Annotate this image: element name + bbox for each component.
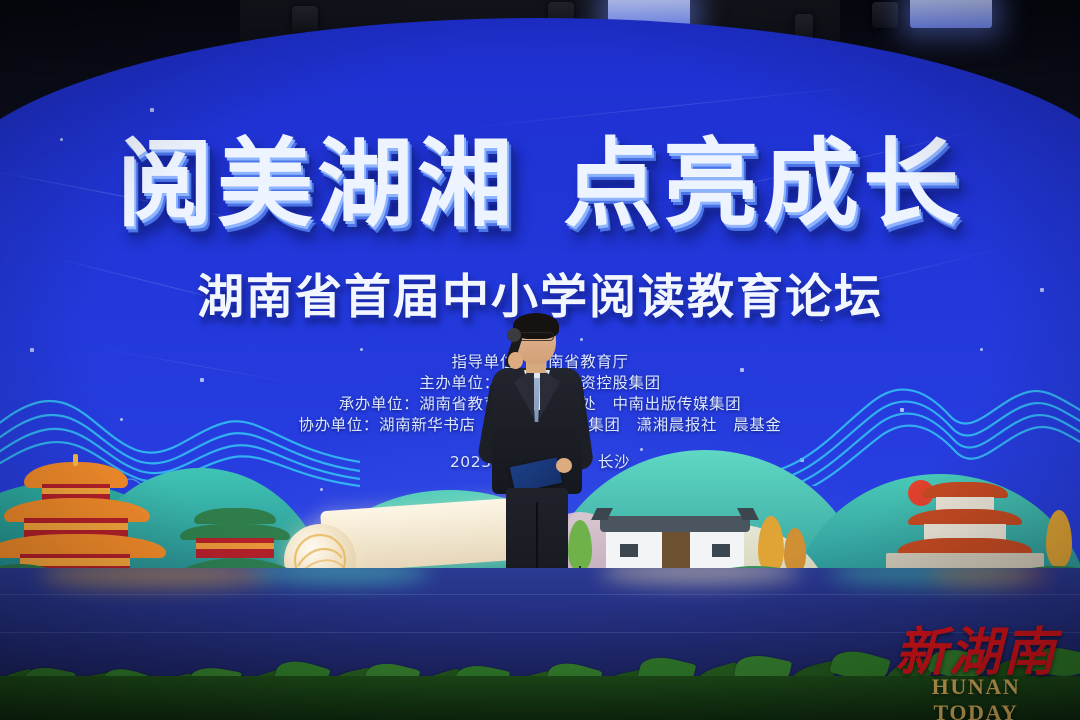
- academy-window: [620, 544, 638, 557]
- event-main-title: 阅美湖湘点亮成长: [0, 133, 1080, 235]
- academy-window: [712, 544, 730, 557]
- tower-roof-mid: [908, 509, 1022, 525]
- star-dot: [980, 348, 983, 351]
- tower-roof-low: [898, 538, 1032, 554]
- tower-roof-top: [922, 482, 1008, 498]
- star-dot: [360, 348, 363, 351]
- speaker-right-hand: [556, 458, 572, 473]
- main-title-part-1: 阅美湖湘: [117, 127, 517, 240]
- tree: [1046, 510, 1072, 568]
- stage-photo: 阅美湖湘点亮成长 湖南省首届中小学阅读教育论坛 指导单位：湖南省教育厅 主办单位…: [0, 0, 1080, 720]
- credit-label: 承办单位：: [339, 395, 420, 413]
- pavilion-roof: [194, 508, 276, 524]
- pavilion-band: [196, 543, 274, 549]
- star-dot: [150, 108, 154, 112]
- pagoda-tier-1-band: [42, 488, 110, 494]
- floor-reflection: [600, 568, 800, 584]
- floor-reflection: [40, 568, 270, 588]
- pagoda-finial-icon: [73, 454, 78, 466]
- watermark-english: HUNAN TODAY: [886, 674, 1066, 720]
- light-streak: [460, 84, 878, 129]
- floor-reflection: [250, 568, 430, 584]
- academy-roof: [600, 516, 750, 532]
- speaker-left-hand: [508, 352, 523, 369]
- microphone-head-icon: [507, 328, 521, 342]
- main-title-part-2: 点亮成长: [563, 127, 963, 240]
- watermark: 新湖南 HUNAN TODAY: [886, 610, 1066, 714]
- yueyang-tower-illustration: [0, 452, 170, 582]
- floor-seam: [0, 594, 1080, 595]
- glasses-icon: [518, 332, 554, 341]
- pagoda-tier-2-band: [24, 523, 128, 530]
